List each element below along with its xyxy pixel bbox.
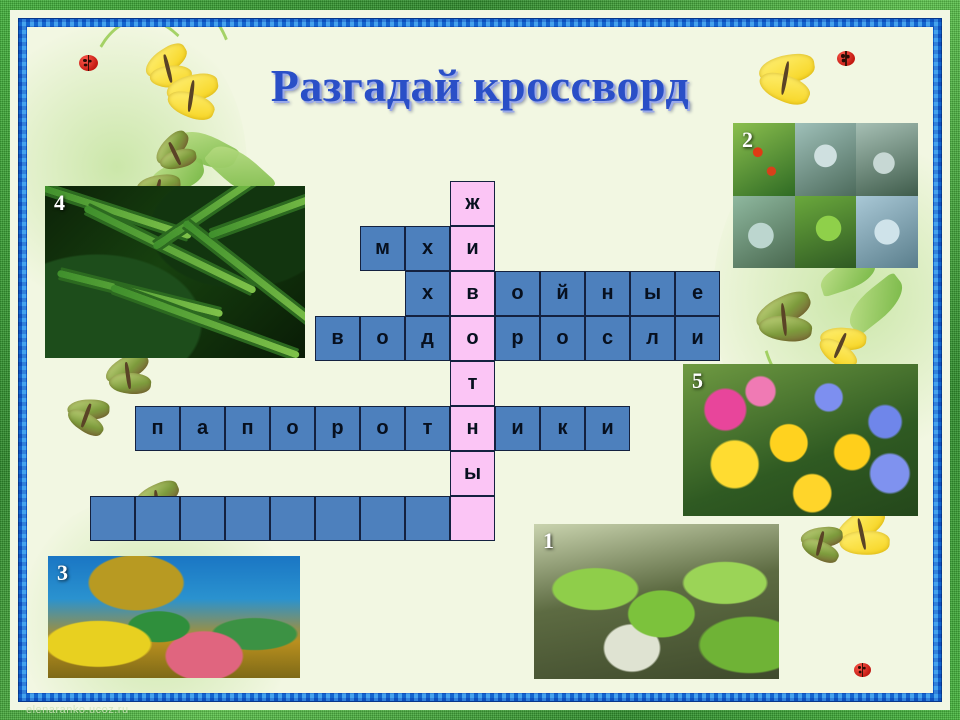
crossword-cell-filled[interactable]: х bbox=[405, 271, 450, 316]
page-title: Разгадай кроссворд bbox=[27, 59, 933, 112]
crossword-cell-empty[interactable] bbox=[90, 496, 135, 541]
crossword-cell-filled[interactable]: о bbox=[270, 406, 315, 451]
photo-conifers: 2 bbox=[733, 123, 918, 268]
crossword-cell-filled[interactable]: а bbox=[180, 406, 225, 451]
crossword-cell-filled[interactable]: о bbox=[360, 316, 405, 361]
photo-flowers: 5 bbox=[683, 364, 918, 516]
slide-root: Разгадай кроссворд 4 2 5 1 bbox=[0, 0, 960, 720]
photo-moss: 1 bbox=[534, 524, 779, 679]
crossword-cell-filled[interactable]: и bbox=[675, 316, 720, 361]
photo-number-2: 2 bbox=[742, 127, 753, 153]
crossword-cell-filled[interactable]: п bbox=[135, 406, 180, 451]
crossword-cell-filled[interactable]: ж bbox=[450, 181, 495, 226]
slide-content-area: Разгадай кроссворд 4 2 5 1 bbox=[27, 27, 933, 693]
crossword-cell-filled[interactable]: д bbox=[405, 316, 450, 361]
crossword-cell-filled[interactable]: р bbox=[315, 406, 360, 451]
crossword-cell-filled[interactable]: х bbox=[405, 226, 450, 271]
butterfly-icon-7 bbox=[60, 393, 111, 439]
crossword-cell-filled[interactable]: в bbox=[450, 271, 495, 316]
crossword-cell-filled[interactable]: о bbox=[540, 316, 585, 361]
crossword-cell-filled[interactable]: о bbox=[450, 316, 495, 361]
photo-ferns: 4 bbox=[45, 186, 305, 358]
crossword-cell-empty[interactable] bbox=[270, 496, 315, 541]
photo-number-5: 5 bbox=[692, 368, 703, 394]
crossword-cell-filled[interactable]: ы bbox=[630, 271, 675, 316]
crossword-cell-filled[interactable]: о bbox=[360, 406, 405, 451]
crossword-cell-filled[interactable]: н bbox=[585, 271, 630, 316]
crossword-cell-empty[interactable] bbox=[405, 496, 450, 541]
crossword-cell-filled[interactable]: с bbox=[585, 316, 630, 361]
crossword-cell-filled[interactable]: е bbox=[675, 271, 720, 316]
butterfly-icon-11 bbox=[831, 508, 893, 562]
photo-algae: 3 bbox=[48, 556, 300, 678]
crossword-cell-empty[interactable] bbox=[135, 496, 180, 541]
crossword-cell-filled[interactable]: в bbox=[315, 316, 360, 361]
crossword-cell-empty[interactable] bbox=[360, 496, 405, 541]
crossword-cell-empty[interactable] bbox=[180, 496, 225, 541]
photo-number-4: 4 bbox=[54, 190, 65, 216]
crossword-cell-filled[interactable]: ы bbox=[450, 451, 495, 496]
crossword-cell-filled[interactable]: й bbox=[540, 271, 585, 316]
photo-number-1: 1 bbox=[543, 528, 554, 554]
butterfly-icon-6 bbox=[103, 354, 154, 398]
crossword-cell-filled[interactable]: т bbox=[450, 361, 495, 406]
crossword-cell-filled[interactable]: и bbox=[495, 406, 540, 451]
crossword-cell-filled[interactable]: и bbox=[585, 406, 630, 451]
crossword-cell-empty[interactable] bbox=[315, 496, 360, 541]
crossword-cell-filled[interactable]: р bbox=[495, 316, 540, 361]
crossword-cell-filled[interactable]: т bbox=[405, 406, 450, 451]
watermark: elenaranko.ucoz.ru bbox=[26, 704, 129, 716]
photo-number-3: 3 bbox=[57, 560, 68, 586]
crossword-cell-filled[interactable]: н bbox=[450, 406, 495, 451]
crossword-cell-filled[interactable]: о bbox=[495, 271, 540, 316]
crossword-cell-empty[interactable] bbox=[225, 496, 270, 541]
butterfly-icon-12 bbox=[796, 522, 845, 565]
crossword-cell-filled[interactable]: м bbox=[360, 226, 405, 271]
crossword-cell-filled[interactable]: п bbox=[225, 406, 270, 451]
crossword-cell-filled[interactable]: и bbox=[450, 226, 495, 271]
ladybug-icon-bottom bbox=[854, 663, 871, 677]
crossword-cell-filled[interactable]: л bbox=[630, 316, 675, 361]
crossword-cell-empty[interactable] bbox=[450, 496, 495, 541]
crossword-cell-filled[interactable]: к bbox=[540, 406, 585, 451]
